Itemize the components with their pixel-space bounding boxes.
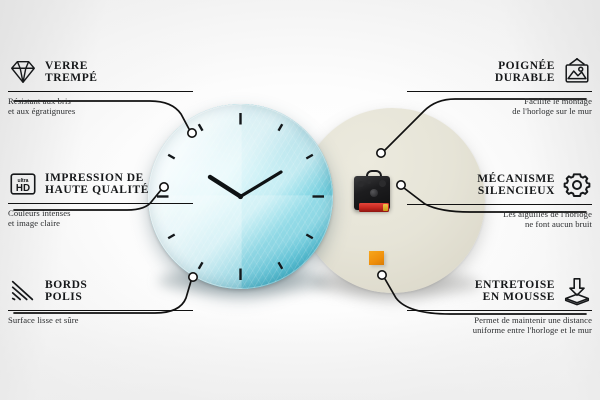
feature-entretoise-en-mousse: ENTRETOISE EN MOUSSE Permet de maintenir…	[407, 276, 592, 336]
feature-header: ENTRETOISE EN MOUSSE	[407, 276, 592, 306]
clock-tick	[279, 262, 283, 268]
clock-tick	[199, 262, 203, 268]
clock-tick	[306, 235, 312, 239]
feature-divider	[8, 91, 193, 92]
feature-bords-polis: BORDS POLIS Surface lisse et sûre	[8, 276, 193, 325]
feature-divider	[407, 204, 592, 205]
feature-title: BORDS POLIS	[45, 279, 87, 304]
svg-text:HD: HD	[16, 183, 30, 194]
foam-spacer-arrow-icon	[562, 276, 592, 306]
feature-subtitle: Couleurs intenses et image claire	[8, 208, 193, 229]
hour-hand	[210, 177, 241, 197]
feature-impression-haute-qualite: ultra HD IMPRESSION DE HAUTE QUALITÉ Cou…	[8, 169, 193, 229]
feature-header: BORDS POLIS	[8, 276, 193, 306]
feature-poignee-durable: POIGNÉE DURABLE Facilite le montage de l…	[407, 57, 592, 117]
feature-divider	[8, 203, 193, 204]
hanging-frame-icon	[562, 57, 592, 87]
feature-subtitle: Surface lisse et sûre	[8, 315, 193, 325]
feature-mecanisme-silencieux: MÉCANISME SILENCIEUX Les aiguilles de l'…	[407, 170, 592, 230]
clock-tick	[306, 155, 312, 159]
minute-hand	[241, 172, 282, 197]
feature-divider	[8, 310, 193, 311]
feature-title: POIGNÉE DURABLE	[495, 60, 555, 85]
diamond-icon	[8, 57, 38, 87]
feature-title: ENTRETOISE EN MOUSSE	[475, 279, 555, 304]
feature-subtitle: Permet de maintenir une distance uniform…	[407, 315, 592, 336]
mechanism-body	[354, 176, 390, 210]
clock-tick	[279, 124, 283, 130]
feature-subtitle: Facilite le montage de l'horloge sur le …	[407, 96, 592, 117]
clock-tick	[168, 235, 174, 239]
mechanism-detail-dot	[367, 180, 371, 184]
feature-divider	[407, 310, 592, 311]
feature-verre-trempe: VERRE TREMPÉ Résistant aux bris et aux é…	[8, 57, 193, 117]
mechanism-detail-dot	[358, 181, 364, 187]
foam-spacer-square	[369, 251, 384, 265]
hands-center-cap	[238, 194, 243, 199]
feature-header: MÉCANISME SILENCIEUX	[407, 170, 592, 200]
clock-tick	[168, 155, 174, 159]
mechanism-detail-dot	[379, 180, 386, 187]
mechanism-shaft	[370, 189, 378, 197]
feature-subtitle: Résistant aux bris et aux égratignures	[8, 96, 193, 117]
infographic-canvas: VERRE TREMPÉ Résistant aux bris et aux é…	[0, 0, 600, 400]
feature-header: VERRE TREMPÉ	[8, 57, 193, 87]
battery	[359, 203, 389, 212]
clock-tick	[199, 124, 203, 130]
clock-mechanism	[352, 170, 392, 212]
feature-title: VERRE TREMPÉ	[45, 60, 98, 85]
polished-edge-icon	[8, 276, 38, 306]
feature-title: MÉCANISME SILENCIEUX	[477, 173, 555, 198]
feature-header: ultra HD IMPRESSION DE HAUTE QUALITÉ	[8, 169, 193, 199]
feature-divider	[407, 91, 592, 92]
ultra-hd-badge-icon: ultra HD	[8, 169, 38, 199]
feature-header: POIGNÉE DURABLE	[407, 57, 592, 87]
feature-subtitle: Les aiguilles de l'horloge ne font aucun…	[407, 209, 592, 230]
feature-title: IMPRESSION DE HAUTE QUALITÉ	[45, 172, 149, 197]
gear-icon	[562, 170, 592, 200]
